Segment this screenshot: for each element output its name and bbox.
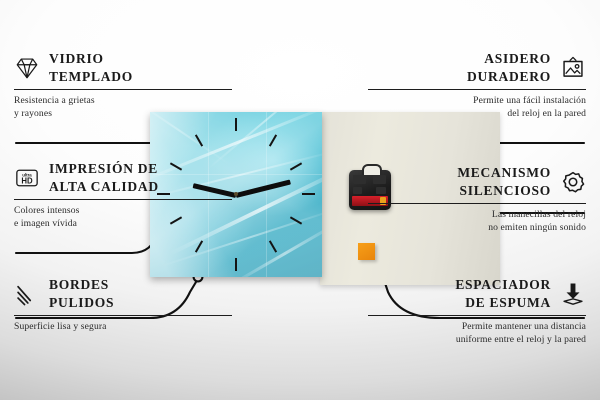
feature-subtitle: Resistencia a grietas y rayones <box>14 94 232 120</box>
foam-spacer <box>358 243 375 260</box>
feature-subtitle: Permite una fácil instalación del reloj … <box>368 94 586 120</box>
feature-title: ASIDERO DURADERO <box>467 50 551 86</box>
clock-center-pin <box>234 192 238 196</box>
ultra-hd-badge-icon: ultra HD <box>14 165 40 191</box>
clock-tick <box>302 193 315 195</box>
diamond-icon <box>14 55 40 81</box>
print-seam <box>266 112 267 277</box>
polished-edges-icon <box>14 281 40 307</box>
title-rule <box>368 89 586 90</box>
feature-subtitle: Permite mantener una distancia uniforme … <box>368 320 586 346</box>
feature-title: BORDES PULIDOS <box>49 276 114 312</box>
clock-tick <box>235 258 237 271</box>
feature-subtitle: Colores intensos e imagen vívida <box>14 204 232 230</box>
feature-title: MECANISMO SILENCIOSO <box>457 164 551 200</box>
feature-title: VIDRIO TEMPLADO <box>49 50 133 86</box>
title-rule <box>14 89 232 90</box>
feature-impresion-alta-calidad: ultra HD IMPRESIÓN DE ALTA CALIDAD Color… <box>14 160 232 231</box>
feature-title: IMPRESIÓN DE ALTA CALIDAD <box>49 160 159 196</box>
feature-subtitle: Las manecillas del reloj no emiten ningú… <box>368 208 586 234</box>
movement-detail <box>353 187 362 194</box>
feature-subtitle: Superficie lisa y segura <box>14 320 232 333</box>
feature-vidrio-templado: VIDRIO TEMPLADO Resistencia a grietas y … <box>14 50 232 121</box>
infographic-canvas: VIDRIO TEMPLADO Resistencia a grietas y … <box>0 0 600 400</box>
feature-title: ESPACIADOR DE ESPUMA <box>455 276 551 312</box>
gear-icon <box>560 169 586 195</box>
clock-tick <box>235 118 237 131</box>
title-rule <box>14 199 232 200</box>
feature-bordes-pulidos: BORDES PULIDOS Superficie lisa y segura <box>14 276 232 333</box>
title-rule <box>14 315 232 316</box>
feature-asidero-duradero: ASIDERO DURADERO Permite una fácil insta… <box>368 50 586 121</box>
clock-tick <box>269 240 277 252</box>
clock-tick <box>290 162 302 170</box>
down-arrow-pad-icon <box>560 281 586 307</box>
title-rule <box>368 315 586 316</box>
feature-mecanismo-silencioso: MECANISMO SILENCIOSO Las manecillas del … <box>368 164 586 235</box>
movement-detail <box>353 175 366 184</box>
picture-hanger-icon <box>560 55 586 81</box>
title-rule <box>368 203 586 204</box>
clock-minute-hand <box>235 180 291 198</box>
svg-text:HD: HD <box>21 177 33 186</box>
feature-espaciador-de-espuma: ESPACIADOR DE ESPUMA Permite mantener un… <box>368 276 586 347</box>
clock-tick <box>269 134 277 146</box>
